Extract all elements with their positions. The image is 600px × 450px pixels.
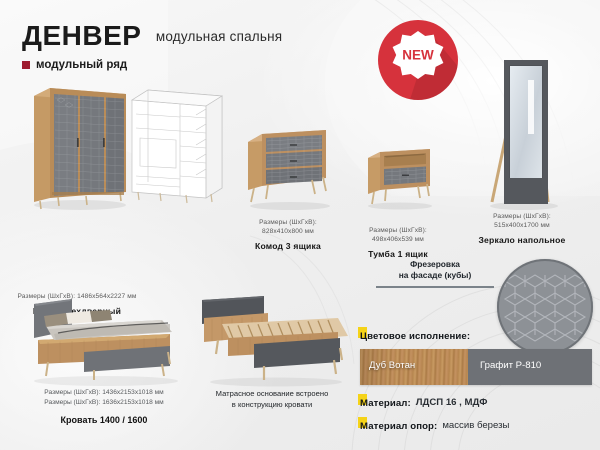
material-value: ЛДСП 16 , МДФ: [416, 397, 488, 408]
new-badge: NEW: [376, 18, 460, 102]
tagline: модульный ряд: [22, 59, 282, 71]
product-dresser: Размеры (ШхГхВ): 828х410х800 мм Комод 3 …: [232, 112, 344, 251]
material-row: Материал: ЛДСП 16 , МДФ: [360, 393, 592, 411]
product-bed: [10, 296, 194, 393]
color-oak-label: Дуб Вотан: [360, 349, 468, 371]
tagline-label: модульный ряд: [36, 59, 127, 71]
bed-dimensions-1400: Размеры (ШхГхВ): 1436x2153x1018 мм: [14, 388, 194, 398]
tagline-marker-icon: [22, 61, 30, 69]
badge-label: NEW: [402, 48, 434, 63]
milling-line1: Фрезеровка: [376, 259, 494, 270]
bed-dimensions-1600: Размеры (ШхГхВ): 1636x2153x1018 мм: [14, 398, 194, 408]
nightstand-name: Тумба 1 ящик: [348, 249, 448, 259]
colors-label: Цветовое исполнение:: [360, 331, 470, 342]
colors-label-row: Цветовое исполнение:: [360, 326, 592, 344]
color-graphite-label: Графит Р-810: [468, 349, 592, 371]
product-bed-frame: [188, 296, 358, 393]
nightstand-dimensions-line2: 498х406х539 мм: [348, 236, 448, 245]
base-note-line2: в конструкцию кровати: [188, 399, 356, 410]
legs-row: Материал опор: массив березы: [360, 416, 592, 434]
product-wardrobe-schematic: [118, 76, 234, 211]
dresser-name: Комод 3 ящика: [232, 241, 344, 251]
info-panel: Цветовое исполнение: Дуб Вотан Графит Р-…: [360, 326, 592, 439]
legs-label-highlight: Материал опор:: [360, 416, 437, 434]
nightstand-dimensions-line1: Размеры (ШхГхВ):: [348, 227, 448, 236]
product-nightstand: Размеры (ШхГхВ): 498х406х539 мм Тумба 1 …: [348, 132, 448, 259]
color-swatch-graphite: Графит Р-810: [468, 349, 592, 385]
bed-name: Кровать 1400 / 1600: [14, 415, 194, 425]
milling-line2: на фасаде (кубы): [376, 270, 494, 281]
dresser-3-drawer-photo: [232, 112, 344, 217]
bed-frame-photo: [188, 296, 358, 393]
nightstand-1-drawer-photo: [348, 132, 448, 217]
milling-underline: [376, 286, 494, 288]
bed-photo: [10, 296, 194, 393]
colors-label-highlight: Цветовое исполнение:: [360, 326, 470, 344]
page-title: ДЕНВЕР: [22, 22, 141, 50]
wardrobe-3-door-wireframe: [118, 76, 234, 211]
dresser-dimensions-line2: 828х410х800 мм: [232, 228, 344, 237]
product-mirror: Размеры (ШхГхВ): 515х400х1700 мм Зеркало…: [452, 54, 592, 245]
floor-mirror-photo: [452, 54, 592, 217]
page-subtitle: модульная спальня: [156, 29, 282, 44]
mirror-dimensions-line2: 515х400х1700 мм: [452, 222, 592, 231]
material-label: Материал:: [360, 398, 411, 409]
dresser-dimensions-line1: Размеры (ШхГхВ):: [232, 219, 344, 228]
legs-value: массив березы: [442, 420, 509, 431]
catalog-sheet: ДЕНВЕР модульная спальня модульный ряд N…: [0, 0, 600, 450]
color-swatches: Дуб Вотан Графит Р-810: [360, 349, 592, 385]
header: ДЕНВЕР модульная спальня модульный ряд: [22, 22, 282, 71]
material-label-highlight: Материал:: [360, 393, 411, 411]
base-note-line1: Матрасное основание встроено: [188, 388, 356, 399]
mirror-name: Зеркало напольное: [452, 235, 592, 245]
bed-captions: Размеры (ШхГхВ): 1436x2153x1018 мм Разме…: [14, 388, 194, 425]
color-swatch-oak: Дуб Вотан: [360, 349, 468, 385]
legs-label: Материал опор:: [360, 421, 437, 432]
mattress-base-note: Матрасное основание встроено в конструкц…: [188, 388, 356, 410]
milling-note: Фрезеровка на фасаде (кубы): [376, 259, 494, 288]
